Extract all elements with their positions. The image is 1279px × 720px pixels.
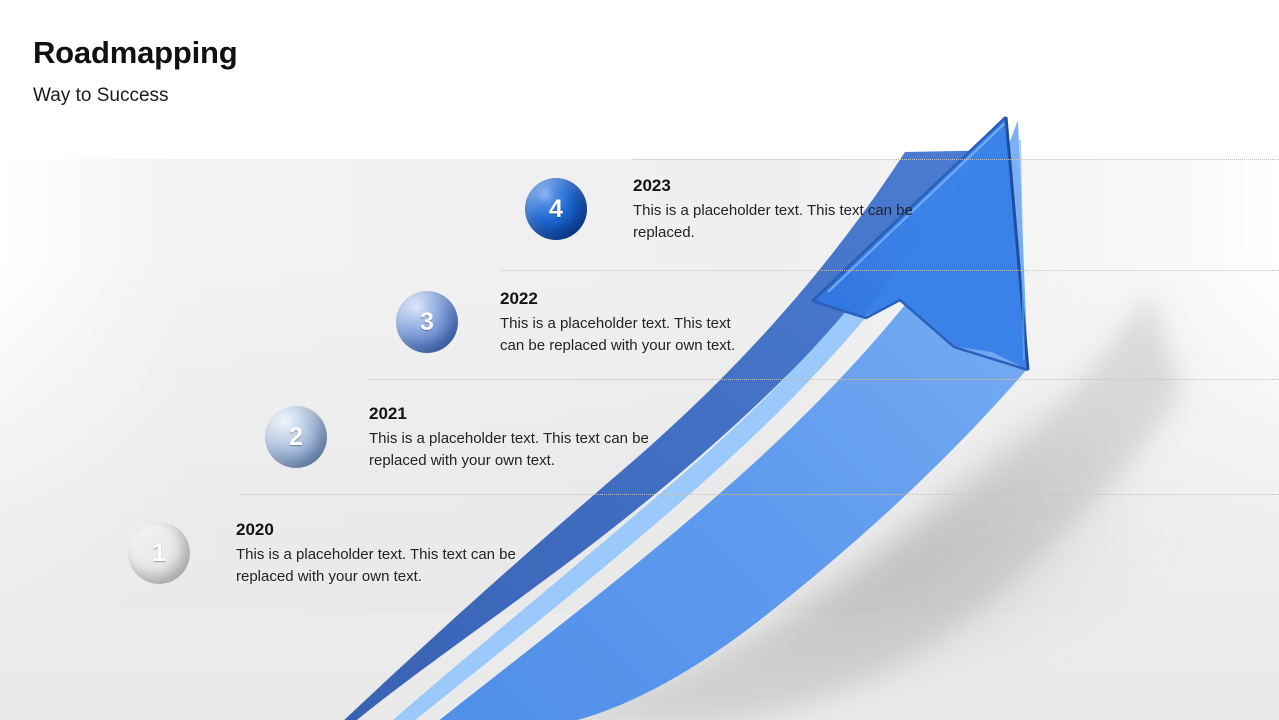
step-marker-2[interactable]: 2 xyxy=(265,406,327,468)
separator-rule-step2-step1 xyxy=(238,494,1279,495)
arrow-head-right-edge xyxy=(1006,117,1028,370)
step-description-1: This is a placeholder text. This text ca… xyxy=(236,544,566,587)
separator-rule-step4-step3 xyxy=(500,270,1279,271)
step-marker-4[interactable]: 4 xyxy=(525,178,587,240)
arrow-head-right-highlight xyxy=(1020,140,1024,360)
arrow-head-face xyxy=(862,117,1028,370)
separator-rule-top-step4 xyxy=(633,159,1279,160)
step-description-4: This is a placeholder text. This text ca… xyxy=(633,200,933,243)
step-year-4: 2023 xyxy=(633,175,933,196)
step-description-2: This is a placeholder text. This text ca… xyxy=(369,428,674,471)
separator-rule-step3-step2 xyxy=(369,379,1279,380)
slide-canvas: Roadmapping Way to Success 4 2023 This i… xyxy=(0,0,1279,720)
step-year-3: 2022 xyxy=(500,288,745,309)
title-block: Roadmapping Way to Success xyxy=(33,36,237,108)
step-number-4: 4 xyxy=(549,195,563,224)
step-year-2: 2021 xyxy=(369,403,674,424)
page-title: Roadmapping xyxy=(33,36,237,70)
step-number-3: 3 xyxy=(420,308,434,337)
step-content-4: 2023 This is a placeholder text. This te… xyxy=(633,175,933,243)
page-subtitle: Way to Success xyxy=(33,85,237,108)
row-band-step1 xyxy=(0,494,1279,614)
arrow-drop-shadow xyxy=(470,292,1182,720)
arrow-svg xyxy=(0,0,1279,720)
step-content-3: 2022 This is a placeholder text. This te… xyxy=(500,288,745,356)
step-content-1: 2020 This is a placeholder text. This te… xyxy=(236,519,566,587)
upward-growth-arrow xyxy=(0,0,1279,720)
step-number-2: 2 xyxy=(289,423,303,452)
step-description-3: This is a placeholder text. This text ca… xyxy=(500,313,745,356)
step-marker-1[interactable]: 1 xyxy=(128,522,190,584)
step-marker-3[interactable]: 3 xyxy=(396,291,458,353)
arrow-head-notch-edge xyxy=(812,300,1028,370)
step-content-2: 2021 This is a placeholder text. This te… xyxy=(369,403,674,471)
step-number-1: 1 xyxy=(152,539,166,568)
arrow-head-body xyxy=(816,117,1028,370)
step-year-1: 2020 xyxy=(236,519,566,540)
